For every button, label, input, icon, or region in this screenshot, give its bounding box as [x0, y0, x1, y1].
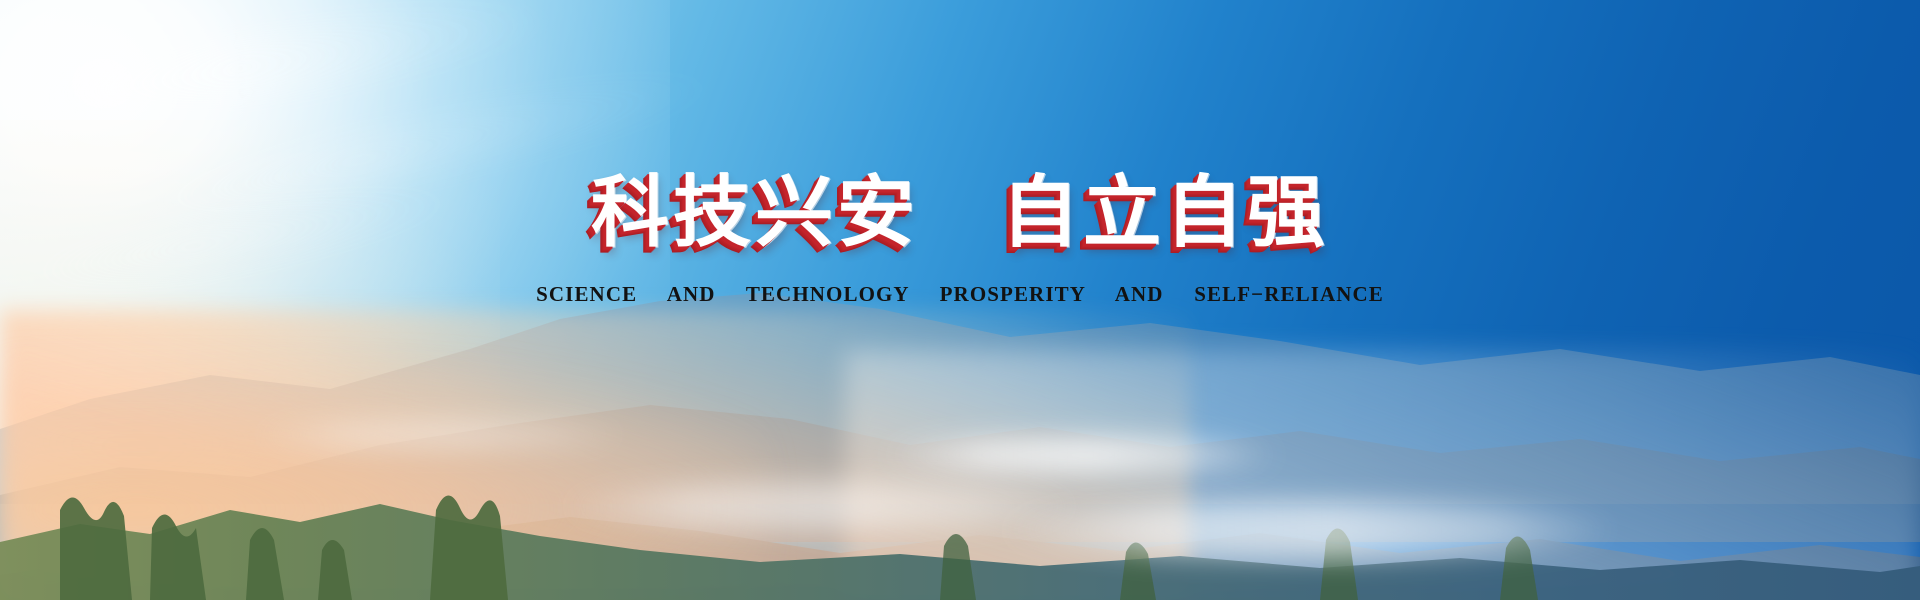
- tree: [60, 497, 132, 600]
- tree: [318, 540, 352, 600]
- tree: [246, 528, 284, 600]
- tree: [430, 495, 508, 600]
- tree: [940, 534, 976, 600]
- tree: [150, 514, 206, 600]
- hero-banner: 科技兴安 自立自强 科技兴安 自立自强 SCIENCE AND TECHNOLO…: [0, 0, 1920, 600]
- tree-silhouettes: [0, 390, 1920, 600]
- fog-band: [1000, 502, 1620, 558]
- mountain-landscape: [0, 280, 1920, 600]
